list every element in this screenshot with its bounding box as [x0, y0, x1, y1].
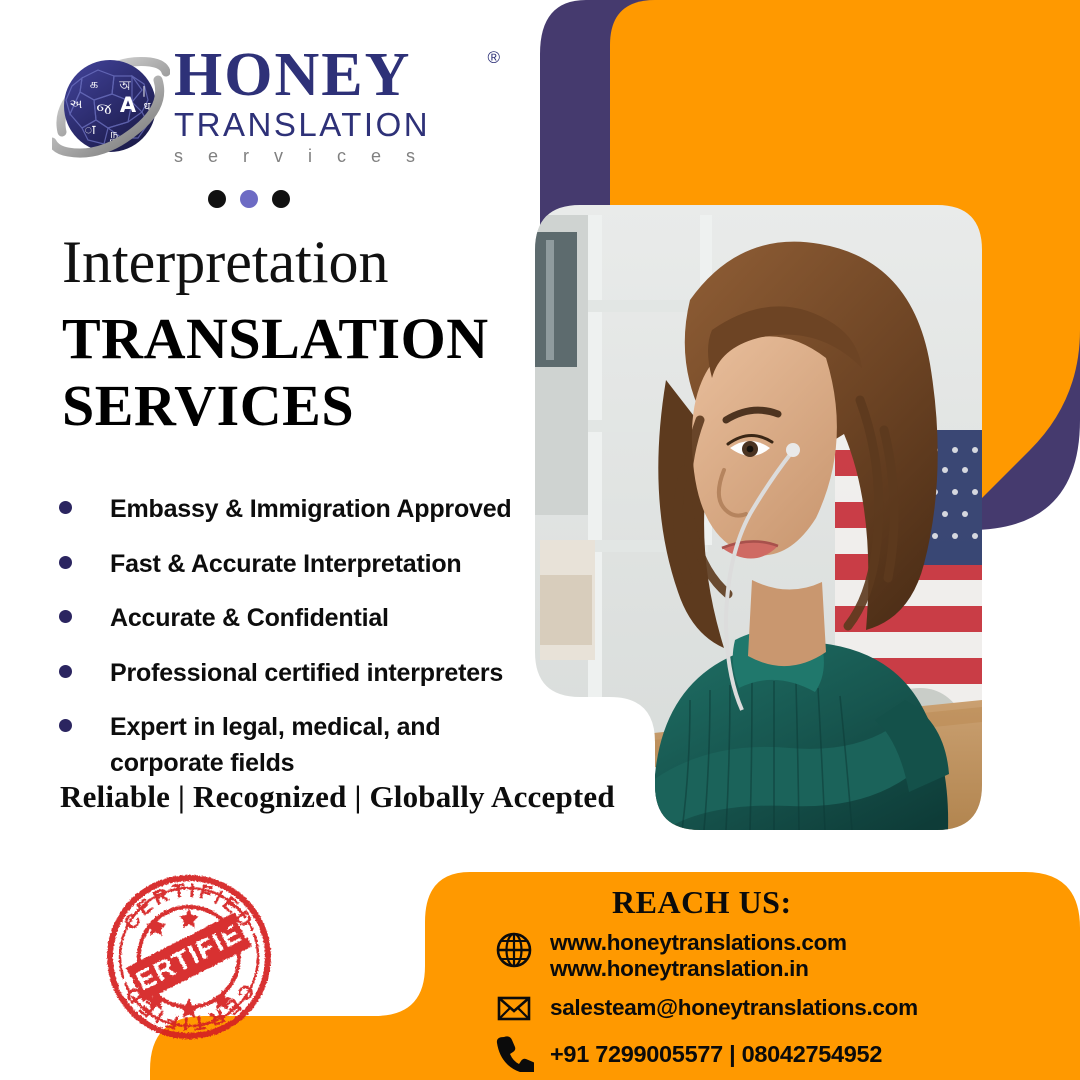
feature-text: Accurate & Confidential: [110, 601, 389, 637]
svg-text:|: |: [142, 84, 146, 97]
globe-icon: [494, 930, 534, 970]
list-item: Accurate & Confidential: [50, 601, 530, 637]
svg-text:க: க: [90, 77, 98, 92]
list-item: Professional certified interpreters: [50, 656, 530, 692]
email-address[interactable]: salesteam@honeytranslations.com: [550, 994, 918, 1021]
dot-3: [272, 190, 290, 208]
svg-text:જ: જ: [96, 99, 112, 118]
feature-text: Fast & Accurate Interpretation: [110, 547, 461, 583]
registered-trademark-icon: ®: [487, 48, 500, 68]
list-item: Embassy & Immigration Approved: [50, 492, 530, 528]
list-item: Expert in legal, medical, and corporate …: [50, 710, 530, 781]
features-list: Embassy & Immigration Approved Fast & Ac…: [50, 492, 530, 800]
bullet-dot-icon: [59, 719, 72, 732]
brand-logo[interactable]: க অ | અ જ A ध ा ந । HONEY ® TRANSLATION …: [52, 44, 472, 184]
bullet-dot-icon: [59, 501, 72, 514]
certified-stamp-icon: CERTIFIED CERTIFIED CERTIFIED: [104, 872, 274, 1042]
bullet-dot-icon: [59, 556, 72, 569]
logo-name: HONEY: [174, 44, 411, 106]
bullet-dot-icon: [59, 665, 72, 678]
photo-image: [535, 205, 985, 836]
tagline: Reliable | Recognized | Globally Accepte…: [60, 779, 615, 815]
envelope-icon: [494, 988, 534, 1028]
svg-text:A: A: [120, 93, 137, 117]
phone-icon: [494, 1032, 534, 1072]
svg-text:ा: ा: [84, 123, 96, 138]
feature-text: Embassy & Immigration Approved: [110, 492, 512, 528]
website-secondary[interactable]: www.honeytranslation.in: [550, 955, 847, 982]
feature-text: Professional certified interpreters: [110, 656, 503, 692]
headline-main: TRANSLATION SERVICES: [62, 305, 542, 440]
headline-line-1: TRANSLATION: [62, 305, 542, 372]
phone-numbers[interactable]: +91 7299005577 | 08042754952: [550, 1040, 882, 1069]
logo-subline-services: s e r v i c e s: [174, 147, 474, 167]
contact-row-website[interactable]: www.honeytranslations.com www.honeytrans…: [494, 930, 847, 983]
bullet-dot-icon: [59, 610, 72, 623]
feature-text: Expert in legal, medical, and corporate …: [110, 710, 470, 781]
poster-canvas: க অ | અ જ A ध ा ந । HONEY ® TRANSLATION …: [0, 0, 1080, 1080]
logo-wordmark: HONEY ® TRANSLATION s e r v i c e s: [174, 44, 474, 166]
svg-text:অ: অ: [118, 79, 131, 94]
headline-script: Interpretation: [62, 232, 532, 292]
language-globe-icon: க অ | અ જ A ध ा ந ।: [52, 50, 170, 168]
list-item: Fast & Accurate Interpretation: [50, 547, 530, 583]
reach-us-title: REACH US:: [612, 884, 792, 921]
contact-row-email[interactable]: salesteam@honeytranslations.com: [494, 988, 918, 1028]
dot-2: [240, 190, 258, 208]
decorative-dots: [208, 190, 290, 208]
headline-line-2: SERVICES: [62, 372, 542, 439]
website-primary[interactable]: www.honeytranslations.com: [550, 929, 847, 956]
svg-text:અ: અ: [70, 97, 83, 111]
dot-1: [208, 190, 226, 208]
logo-subline-translation: TRANSLATION: [174, 108, 474, 143]
contact-row-phone[interactable]: +91 7299005577 | 08042754952: [494, 1032, 882, 1072]
